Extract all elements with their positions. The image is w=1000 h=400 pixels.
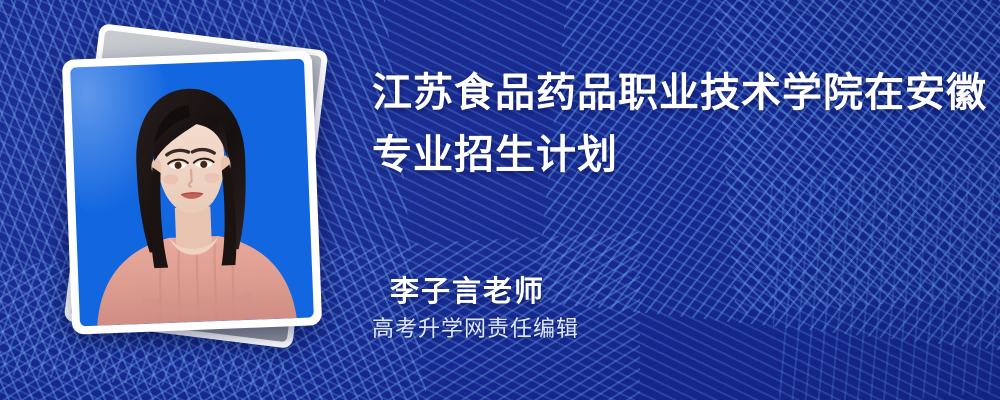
- chevron-pattern-middle-right: [760, 159, 1000, 400]
- author-byline: 李子言老师 高考升学网责任编辑: [372, 272, 792, 346]
- author-role: 高考升学网责任编辑: [372, 312, 792, 346]
- banner-title: 江苏食品药品职业技术学院在安徽 专业招生计划: [372, 62, 972, 186]
- article-header-banner: 江苏食品药品职业技术学院在安徽 专业招生计划 李子言老师 高考升学网责任编辑: [0, 0, 1000, 400]
- page-title-line-1: 江苏食品药品职业技术学院在安徽: [372, 62, 972, 124]
- portrait-illustration: [70, 59, 314, 327]
- photo-stack: [45, 30, 345, 355]
- photo-card-front: [62, 50, 322, 334]
- author-name: 李子言老师: [372, 272, 792, 312]
- author-portrait-photo: [70, 59, 314, 327]
- page-title-line-2: 专业招生计划: [372, 124, 972, 186]
